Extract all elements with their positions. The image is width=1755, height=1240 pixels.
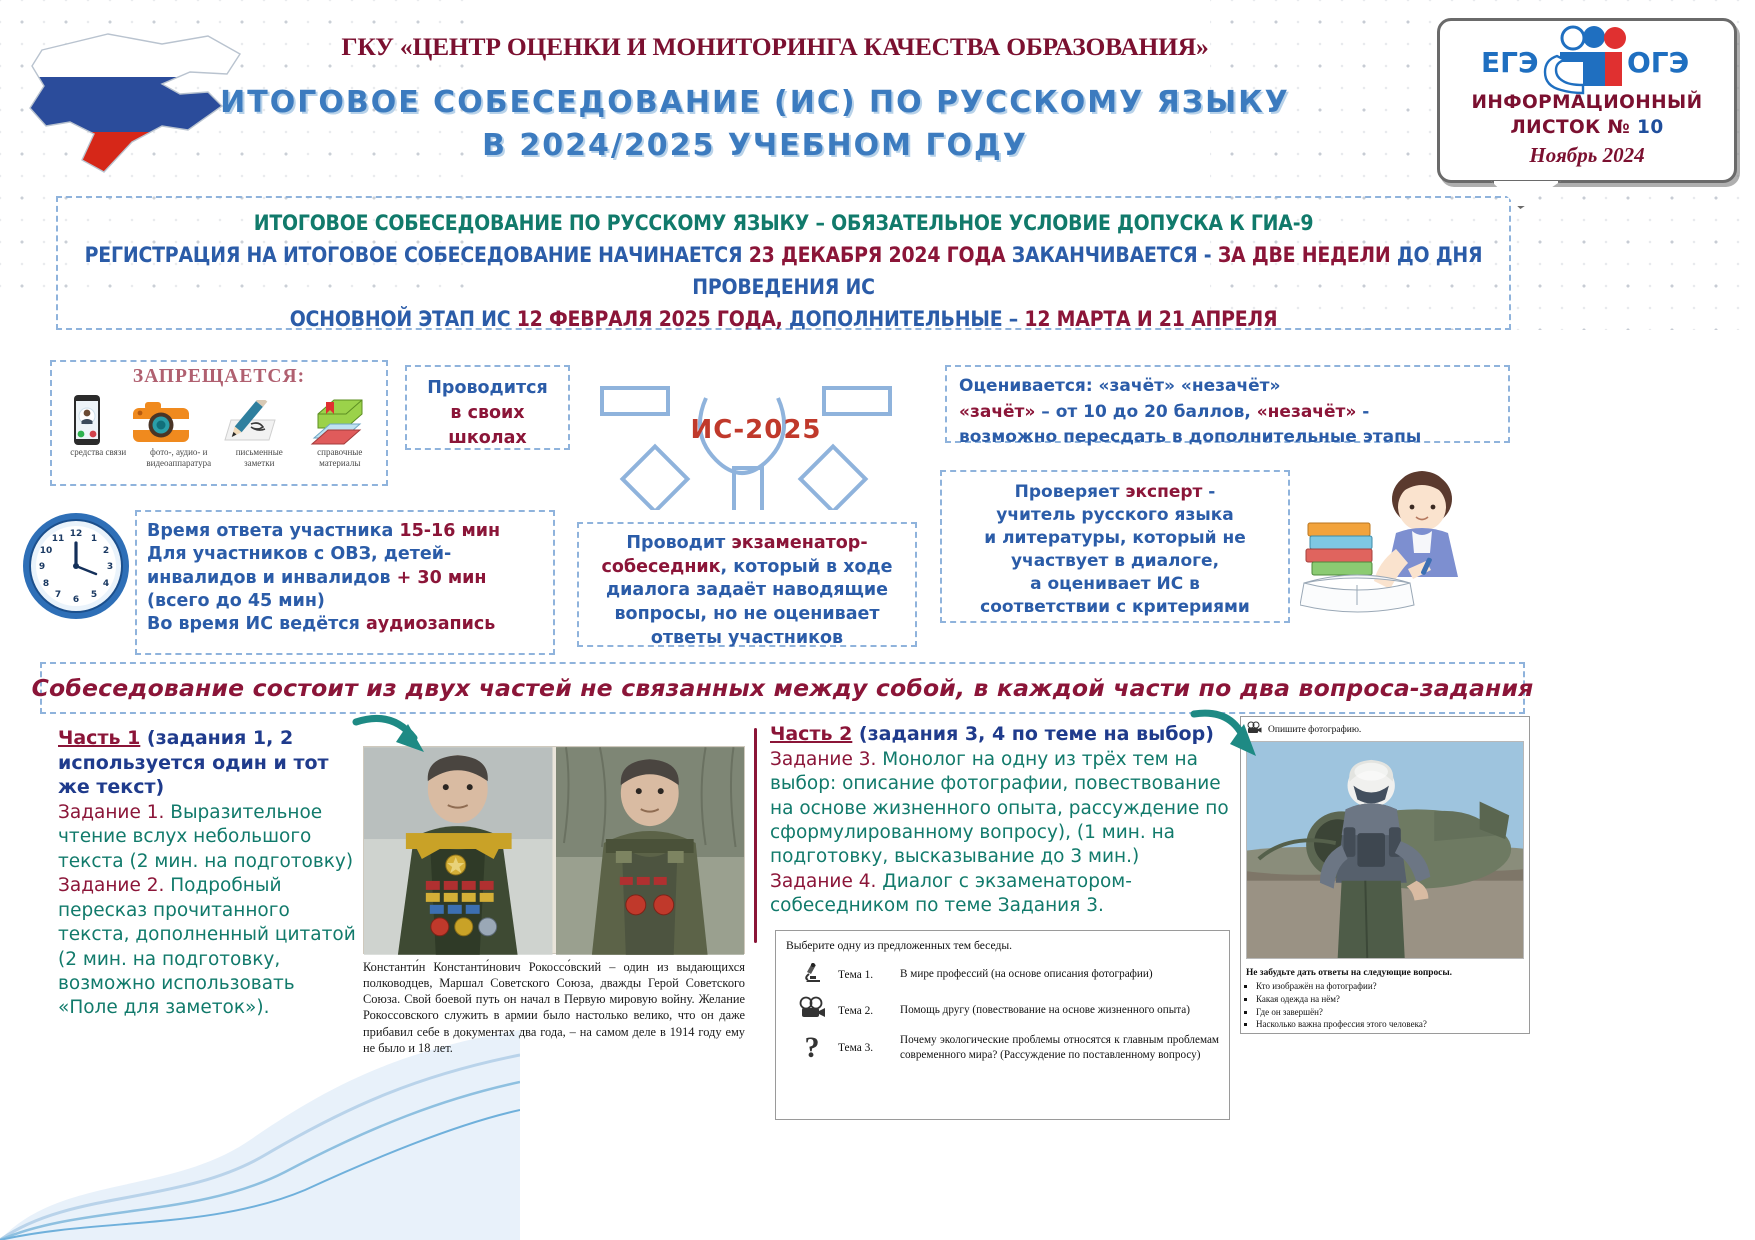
svg-text:1: 1 [91, 534, 97, 544]
rokossovsky-caption: Константи́н Константи́нович Рокоссо́вски… [363, 959, 745, 1056]
time-value: 15-16 мин [399, 521, 500, 541]
task-2-label: Задание 2. [58, 875, 170, 896]
svg-text:3: 3 [107, 562, 113, 572]
svg-text:6: 6 [73, 595, 79, 605]
info-main-stage-date: 12 ФЕВРАЛЯ 2025 ГОДА, [517, 307, 789, 331]
movie-camera-icon [786, 996, 838, 1025]
photo-question-0: Кто изображён на фотографии? [1256, 980, 1524, 993]
themes-selection-table: Выберите одну из предложенных тем беседы… [775, 930, 1230, 1120]
badge-sheet-number: 10 [1637, 117, 1664, 138]
time-line-4: (всего до 45 мин) [147, 590, 543, 613]
time-line-3: инвалидов и инвалидов + 30 мин [147, 567, 543, 590]
photo-question-1: Какая одежда на нём? [1256, 993, 1524, 1006]
info-line-1: ИТОГОВОЕ СОБЕСЕДОВАНИЕ ПО РУССКОМУ ЯЗЫКУ… [76, 208, 1491, 240]
badge-line-2: ЛИСТОК № 10 [1437, 117, 1737, 138]
themes-title: Выберите одну из предложенных тем беседы… [786, 939, 1219, 952]
theme-2-label: Тема 2. [838, 1005, 900, 1017]
svg-text:2: 2 [103, 546, 109, 556]
theme-3-text: Почему экологические проблемы относятся … [900, 1033, 1219, 1062]
expert-card: Проверяет эксперт - учитель русского язы… [940, 470, 1290, 623]
part-1-task-1: Задание 1. Выразительное чтение вслух не… [58, 801, 358, 874]
main-heading-line2: В 2024/2025 УЧЕБНОМ ГОДУ [205, 125, 1305, 168]
photo-question-3: Насколько важна профессия этого человека… [1256, 1018, 1524, 1031]
part-1-label: Часть 1 [58, 727, 140, 749]
table-row: Тема 1. В мире профессий (на основе опис… [786, 959, 1219, 990]
rokossovsky-photos [363, 746, 745, 954]
svg-text:ОГЭ: ОГЭ [1627, 46, 1689, 79]
svg-text:8: 8 [43, 579, 49, 589]
info-sheet-badge: ЕГЭ ОГЭ ИНФОРМАЦИОННЫЙ ЛИСТОК № 10 Ноябр… [1437, 18, 1737, 183]
forbidden-label-1: фото-, аудио- и видеоаппаратура [140, 447, 218, 470]
table-row: ? Тема 3. Почему экологические проблемы … [786, 1031, 1219, 1065]
svg-text:10: 10 [40, 546, 53, 556]
svg-text:7: 7 [55, 590, 61, 600]
photo-card-questions: Кто изображён на фотографии? Какая одежд… [1256, 980, 1524, 1031]
pencil-notes-icon [219, 400, 281, 446]
badge-date: Ноябрь 2024 [1437, 143, 1737, 168]
expert-line-1: Проверяет эксперт - [950, 481, 1280, 504]
part-1-block: Часть 1 (задания 1, 2 используется один … [58, 726, 358, 1021]
examiner-line-3: диалога задаёт наводящие [589, 579, 905, 603]
expert-dash: - [1202, 482, 1215, 502]
rokossovsky-portrait-marshal [364, 747, 553, 955]
examiner-line-2: собеседник, который в ходе [589, 556, 905, 580]
forbidden-items-panel: ЗАПРЕЩАЕТСЯ: [50, 360, 388, 486]
svg-text:11: 11 [52, 534, 65, 544]
part-2-label: Часть 2 [770, 723, 852, 745]
part-2-subtitle: (задания 3, 4 по теме на выбор) [852, 723, 1214, 745]
describe-photo-card: Опишите фотографию. Не забудьте дать отв… [1240, 716, 1530, 1034]
grading-pass-range: – от 10 до 20 баллов, [1041, 402, 1256, 422]
svg-text:5: 5 [91, 590, 97, 600]
rokossovsky-portrait-young [556, 747, 745, 955]
grading-dash: - [1362, 402, 1369, 422]
forbidden-label-3: справочные материалы [301, 447, 379, 470]
arrow-to-part-2-icon [1190, 706, 1270, 764]
info-extra-stage-dates: 12 МАРТА И 21 АПРЕЛЯ [1024, 307, 1277, 331]
task-2-text: Подробный пересказ прочитанного текста, … [58, 875, 356, 1018]
task-1-label: Задание 1. [58, 802, 170, 823]
main-heading-line1: ИТОГОВОЕ СОБЕСЕДОВАНИЕ (ИС) ПО РУССКОМУ … [205, 82, 1305, 125]
key-dates-box: ИТОГОВОЕ СОБЕСЕДОВАНИЕ ПО РУССКОМУ ЯЗЫКУ… [56, 196, 1511, 330]
badge-sheet-label: ЛИСТОК № [1510, 117, 1637, 138]
forbidden-label-row: средства связи фото-, аудио- и видеоаппа… [58, 447, 380, 470]
info-reg-start-date: 23 ДЕКАБРЯ 2024 ГОДА [749, 243, 1012, 267]
forbidden-title: ЗАПРЕЩАЕТСЯ: [58, 366, 380, 388]
svg-text:ЕГЭ: ЕГЭ [1481, 46, 1539, 79]
expert-line-6: соответствии с критериями [950, 596, 1280, 619]
theme-3-label: Тема 3. [838, 1042, 900, 1054]
time-ovz-extra: + 30 мин [397, 568, 487, 588]
info-extra-stage-label: ДОПОЛНИТЕЛЬНЫЕ – [789, 307, 1024, 331]
is-2025-emblem: ИС-2025 [596, 360, 916, 510]
photo-card-title: Опишите фотографию. [1268, 725, 1361, 735]
schools-line-1: Проводится [407, 376, 568, 401]
svg-text:12: 12 [70, 529, 83, 539]
part-1-heading: Часть 1 (задания 1, 2 используется один … [58, 726, 358, 800]
expert-verb: Проверяет [1015, 482, 1126, 502]
theme-1-text: В мире профессий (на основе описания фот… [900, 967, 1153, 982]
question-mark-icon: ? [786, 1031, 838, 1065]
info-reg-prefix: РЕГИСТРАЦИЯ НА ИТОГОВОЕ СОБЕСЕДОВАНИЕ НА… [85, 243, 749, 267]
part-2-task-3: Задание 3. Монолог на одну из трёх тем н… [770, 748, 1240, 870]
main-heading: ИТОГОВОЕ СОБЕСЕДОВАНИЕ (ИС) ПО РУССКОМУ … [205, 82, 1305, 167]
time-label: Время ответа участника [147, 521, 399, 541]
student-reading-illustration [1300, 465, 1515, 625]
grading-line-1: Оценивается: «зачёт» «незачёт» [959, 374, 1496, 400]
wall-clock-icon: 1212 345 678 91011 [20, 510, 132, 622]
time-line-1: Время ответа участника 15-16 мин [147, 520, 543, 543]
page-title: ГКУ «ЦЕНТР ОЦЕНКИ И МОНИТОРИНГА КАЧЕСТВА… [270, 32, 1280, 62]
examiner-line-1: Проводит экзаменатор- [589, 532, 905, 556]
time-rec-label: Во время ИС ведётся [147, 614, 366, 634]
arrow-to-part-1-icon [352, 712, 432, 764]
rokossovsky-photo-block: Константи́н Константи́нович Рокоссо́вски… [363, 746, 745, 1046]
expert-line-2: учитель русского языка [950, 504, 1280, 527]
mobile-phone-icon [72, 394, 102, 446]
time-ovz-label: инвалидов и инвалидов [147, 568, 397, 588]
info-line-2: РЕГИСТРАЦИЯ НА ИТОГОВОЕ СОБЕСЕДОВАНИЕ НА… [76, 240, 1491, 304]
theme-1-label: Тема 1. [838, 969, 900, 981]
examiner-verb: Проводит [626, 533, 731, 553]
expert-line-5: а оценивает ИС в [950, 573, 1280, 596]
time-line-5: Во время ИС ведётся аудиозапись [147, 613, 543, 636]
own-schools-card: Проводится в своих школах [405, 365, 570, 450]
theme-2-text: Помощь другу (повествование на основе жи… [900, 1003, 1190, 1018]
info-line-3: ОСНОВНОЙ ЭТАП ИС 12 ФЕВРАЛЯ 2025 ГОДА, Д… [76, 304, 1491, 336]
structure-banner-text: Собеседование состоит из двух частей не … [32, 674, 1534, 702]
photo-card-subtitle: Не забудьте дать ответы на следующие воп… [1246, 968, 1524, 978]
schools-line-2: в своих [407, 401, 568, 426]
badge-line-1: ИНФОРМАЦИОННЫЙ [1437, 92, 1737, 113]
examiner-line-5: ответы участников [589, 627, 905, 651]
pilot-photo [1246, 741, 1524, 959]
emblem-label: ИС-2025 [691, 415, 822, 445]
schools-line-3: школах [407, 426, 568, 451]
examiner-role-1: экзаменатор- [731, 533, 867, 553]
grading-line-2: «зачёт» – от 10 до 20 баллов, «незачёт» … [959, 400, 1496, 426]
expert-line-3: и литературы, который не [950, 527, 1280, 550]
microscope-icon [786, 959, 838, 990]
examiner-card: Проводит экзаменатор- собеседник, которы… [577, 522, 917, 647]
examiner-role-suffix: , который в ходе [721, 557, 893, 577]
answer-time-card: Время ответа участника 15-16 мин Для уча… [135, 510, 555, 655]
part-1-task-2: Задание 2. Подробный пересказ прочитанно… [58, 874, 358, 1020]
photo-card-header: Опишите фотографию. [1246, 721, 1524, 738]
forbidden-icon-row [58, 390, 380, 446]
task-3-label: Задание 3. [770, 749, 882, 770]
task-4-label: Задание 4. [770, 871, 882, 892]
part-2-block: Часть 2 (задания 3, 4 по теме на выбор) … [770, 722, 1240, 919]
svg-text:9: 9 [39, 562, 45, 572]
part-2-task-4: Задание 4. Диалог с экзаменатором-собесе… [770, 870, 1240, 919]
grading-pass-label: «зачёт» [959, 402, 1041, 422]
expert-line-4: участвует в диалоге, [950, 550, 1280, 573]
examiner-role-2: собеседник [601, 557, 720, 577]
forbidden-label-0: средства связи [59, 447, 137, 470]
grading-fail-label: «незачёт» [1257, 402, 1363, 422]
forbidden-label-2: письменные заметки [220, 447, 298, 470]
photo-question-2: Где он завершён? [1256, 1006, 1524, 1019]
examiner-line-4: вопросы, но не оценивает [589, 603, 905, 627]
grading-line-3: возможно пересдать в дополнительные этап… [959, 425, 1496, 451]
camera-icon [131, 400, 191, 446]
time-rec-value: аудиозапись [366, 614, 495, 634]
info-reg-end-prefix: ЗАКАНЧИВАЕТСЯ - [1012, 243, 1218, 267]
ege-oge-logo-icon: ЕГЭ ОГЭ [1477, 24, 1697, 96]
svg-text:4: 4 [103, 579, 109, 589]
table-row: Тема 2. Помощь другу (повествование на о… [786, 996, 1219, 1025]
info-reg-end-term: ЗА ДВЕ НЕДЕЛИ [1218, 243, 1397, 267]
structure-banner: Собеседование состоит из двух частей не … [40, 662, 1525, 714]
reference-books-icon [310, 398, 366, 446]
expert-role: эксперт [1125, 482, 1202, 502]
grading-card: Оценивается: «зачёт» «незачёт» «зачёт» –… [945, 365, 1510, 443]
time-line-2: Для участников с ОВЗ, детей- [147, 543, 543, 566]
part-2-heading: Часть 2 (задания 3, 4 по теме на выбор) [770, 722, 1240, 747]
part-2-divider [754, 728, 757, 943]
info-main-stage-label: ОСНОВНОЙ ЭТАП ИС [290, 307, 517, 331]
